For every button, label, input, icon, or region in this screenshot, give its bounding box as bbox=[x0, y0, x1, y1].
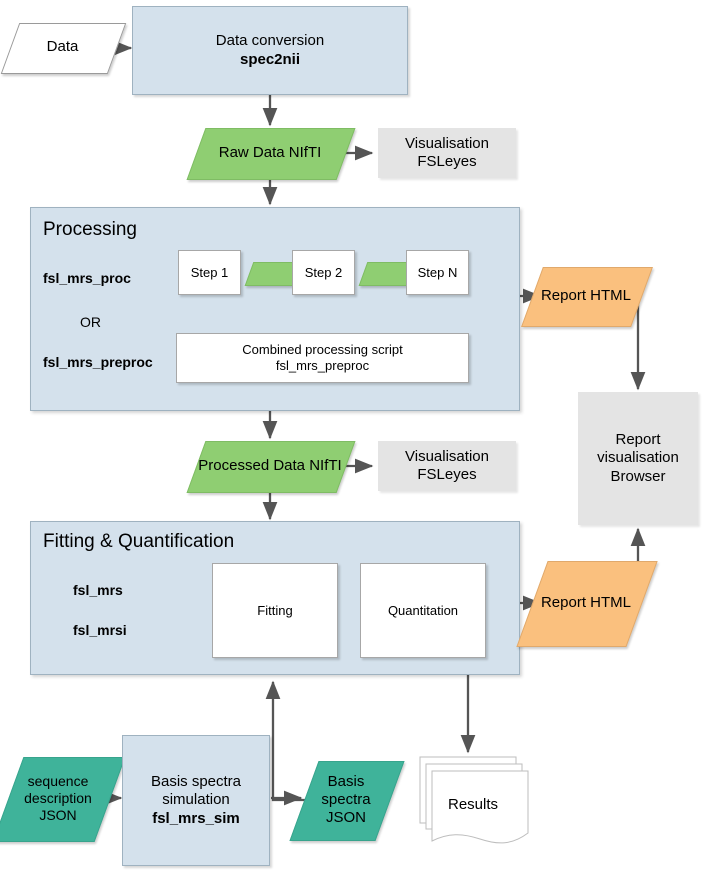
processed-data-line2: NIfTI bbox=[309, 457, 342, 474]
node-step-2[interactable]: Step 2 bbox=[292, 250, 355, 295]
basis-simulation-line2: simulation bbox=[151, 791, 241, 809]
data-input-label-wrap: Data bbox=[10, 23, 115, 72]
processing-tool-primary: fsl_mrs_proc bbox=[43, 270, 131, 287]
step-n-label: Step N bbox=[418, 265, 458, 281]
report-html-processing-line1: Report bbox=[541, 287, 586, 304]
report-html-fitting-line2: HTML bbox=[590, 594, 631, 611]
visualisation-raw-line1: Visualisation bbox=[405, 135, 489, 153]
node-sequence-description[interactable]: sequence description JSON bbox=[8, 757, 108, 840]
data-conversion-line2: spec2nii bbox=[216, 51, 324, 69]
quantitation-label: Quantitation bbox=[388, 603, 458, 619]
sequence-description-line1: sequence bbox=[28, 773, 89, 789]
node-report-html-fitting[interactable]: Report HTML bbox=[532, 561, 640, 645]
basis-spectra-line2: spectra bbox=[321, 791, 370, 808]
node-basis-spectra[interactable]: Basis spectra JSON bbox=[304, 761, 388, 839]
node-results[interactable]: Results bbox=[412, 753, 534, 851]
step-2-label: Step 2 bbox=[305, 265, 343, 281]
sequence-description-line2: description bbox=[24, 790, 92, 806]
raw-data-label-wrap: Raw Data NIfTI bbox=[196, 128, 344, 178]
fitting-tool-primary: fsl_mrs bbox=[73, 582, 123, 599]
report-html-fitting-line1: Report bbox=[541, 594, 586, 611]
data-input-label: Data bbox=[47, 38, 79, 56]
flowchart-canvas: Data Data conversion spec2nii Raw Data N… bbox=[0, 0, 709, 876]
basis-spectra-line1: Basis bbox=[328, 773, 365, 790]
fitting-label: Fitting bbox=[257, 603, 292, 619]
raw-data-line1: Raw Data bbox=[219, 144, 285, 161]
combined-script-line1: Combined processing script bbox=[242, 342, 402, 358]
fitting-tool-secondary: fsl_mrsi bbox=[73, 622, 127, 639]
node-fitting[interactable]: Fitting bbox=[212, 563, 338, 658]
node-quantitation[interactable]: Quantitation bbox=[360, 563, 486, 658]
report-browser-line1: Report bbox=[597, 431, 679, 449]
raw-data-line2: NIfTI bbox=[289, 144, 322, 161]
visualisation-processed-line2: FSLeyes bbox=[405, 466, 489, 484]
report-browser-line2: visualisation bbox=[597, 449, 679, 467]
data-conversion-line1: Data conversion bbox=[216, 32, 324, 50]
fitting-quant-title: Fitting & Quantification bbox=[43, 530, 234, 553]
basis-spectra-label-wrap: Basis spectra JSON bbox=[304, 761, 388, 839]
report-browser-line3: Browser bbox=[597, 468, 679, 486]
combined-script-line2: fsl_mrs_preproc bbox=[242, 358, 402, 374]
processed-data-label-wrap: Processed Data NIfTI bbox=[196, 441, 344, 491]
node-step-n[interactable]: Step N bbox=[406, 250, 469, 295]
node-report-html-processing[interactable]: Report HTML bbox=[532, 267, 640, 325]
basis-simulation-line3: fsl_mrs_sim bbox=[151, 810, 241, 828]
node-report-visualisation-browser[interactable]: Report visualisation Browser bbox=[578, 392, 698, 525]
step-1-label: Step 1 bbox=[191, 265, 229, 281]
connector-shape-step2-stepn bbox=[363, 262, 411, 284]
processing-title: Processing bbox=[43, 218, 137, 241]
visualisation-raw-line2: FSLeyes bbox=[405, 153, 489, 171]
node-visualisation-raw[interactable]: Visualisation FSLeyes bbox=[378, 128, 516, 178]
basis-spectra-line3: JSON bbox=[326, 809, 366, 826]
basis-simulation-line1: Basis spectra bbox=[151, 773, 241, 791]
report-html-fitting-label-wrap: Report HTML bbox=[532, 561, 640, 645]
results-label: Results bbox=[412, 796, 534, 813]
sequence-description-line3: JSON bbox=[39, 807, 76, 823]
visualisation-processed-line1: Visualisation bbox=[405, 448, 489, 466]
node-step-1[interactable]: Step 1 bbox=[178, 250, 241, 295]
report-html-processing-line2: HTML bbox=[590, 287, 631, 304]
connector-shape-step1-step2 bbox=[249, 262, 297, 284]
node-basis-spectra-simulation[interactable]: Basis spectra simulation fsl_mrs_sim bbox=[122, 735, 270, 866]
node-raw-data[interactable]: Raw Data NIfTI bbox=[196, 128, 344, 178]
node-processed-data[interactable]: Processed Data NIfTI bbox=[196, 441, 344, 491]
report-html-processing-label-wrap: Report HTML bbox=[532, 267, 640, 325]
processing-tool-secondary: fsl_mrs_preproc bbox=[43, 354, 153, 371]
sequence-description-label-wrap: sequence description JSON bbox=[8, 757, 108, 840]
processed-data-line1: Processed Data bbox=[198, 457, 305, 474]
node-data-conversion[interactable]: Data conversion spec2nii bbox=[132, 6, 408, 95]
node-visualisation-processed[interactable]: Visualisation FSLeyes bbox=[378, 441, 516, 491]
node-data-input[interactable]: Data bbox=[10, 23, 115, 72]
node-combined-processing-script[interactable]: Combined processing script fsl_mrs_prepr… bbox=[176, 333, 469, 383]
processing-or-label: OR bbox=[80, 314, 101, 331]
